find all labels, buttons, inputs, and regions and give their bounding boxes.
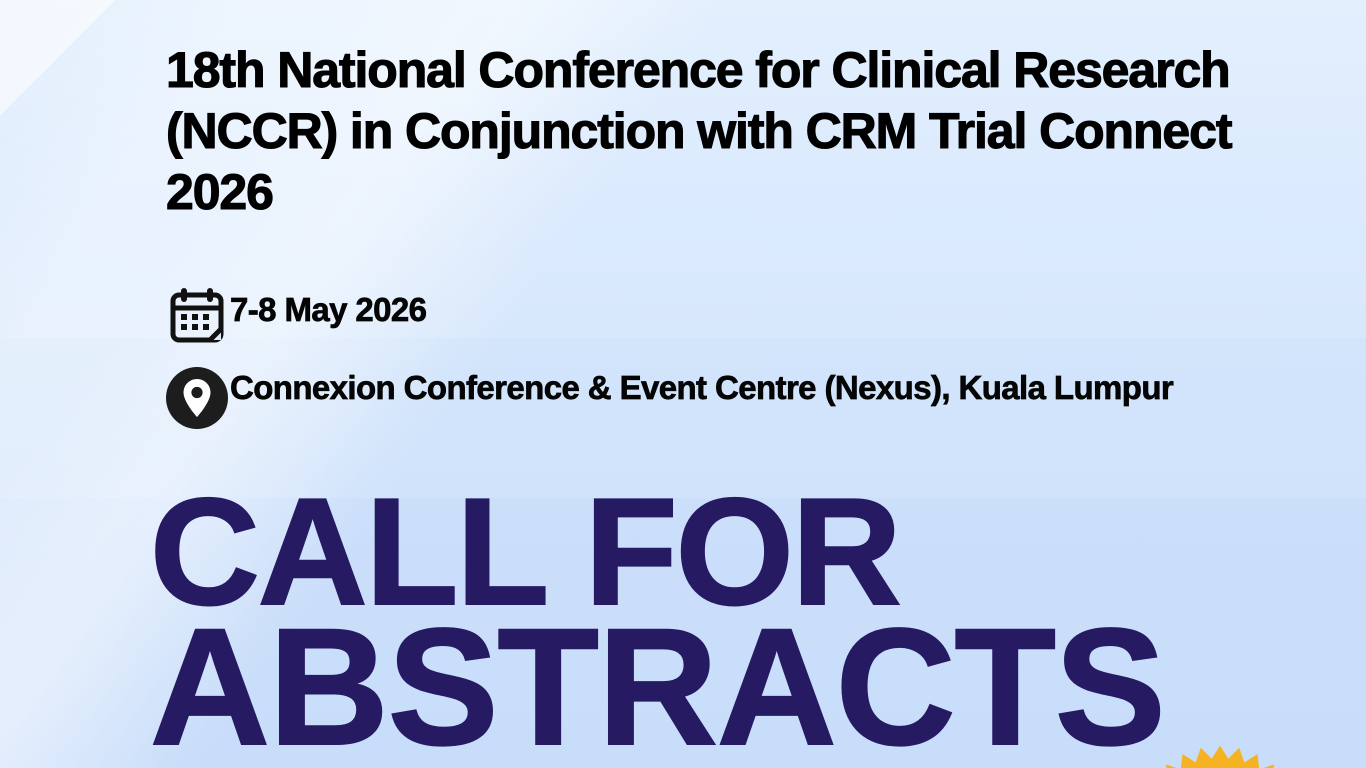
event-details: 7-8 May 2026 Connexion Conference & Even… [166, 285, 1346, 445]
event-venue-text: Connexion Conference & Event Centre (Nex… [230, 363, 1173, 409]
poster-canvas: 18th National Conference for Clinical Re… [0, 0, 1366, 768]
conference-title: 18th National Conference for Clinical Re… [166, 40, 1326, 223]
location-pin-icon [166, 363, 230, 429]
event-date-text: 7-8 May 2026 [230, 285, 426, 331]
headline-block: CALL FOR ABSTRACTS [150, 484, 1165, 756]
headline-line-two: ABSTRACTS [150, 620, 1165, 756]
calendar-icon [166, 285, 230, 347]
event-venue-row: Connexion Conference & Event Centre (Nex… [166, 363, 1346, 429]
event-date-row: 7-8 May 2026 [166, 285, 1346, 347]
